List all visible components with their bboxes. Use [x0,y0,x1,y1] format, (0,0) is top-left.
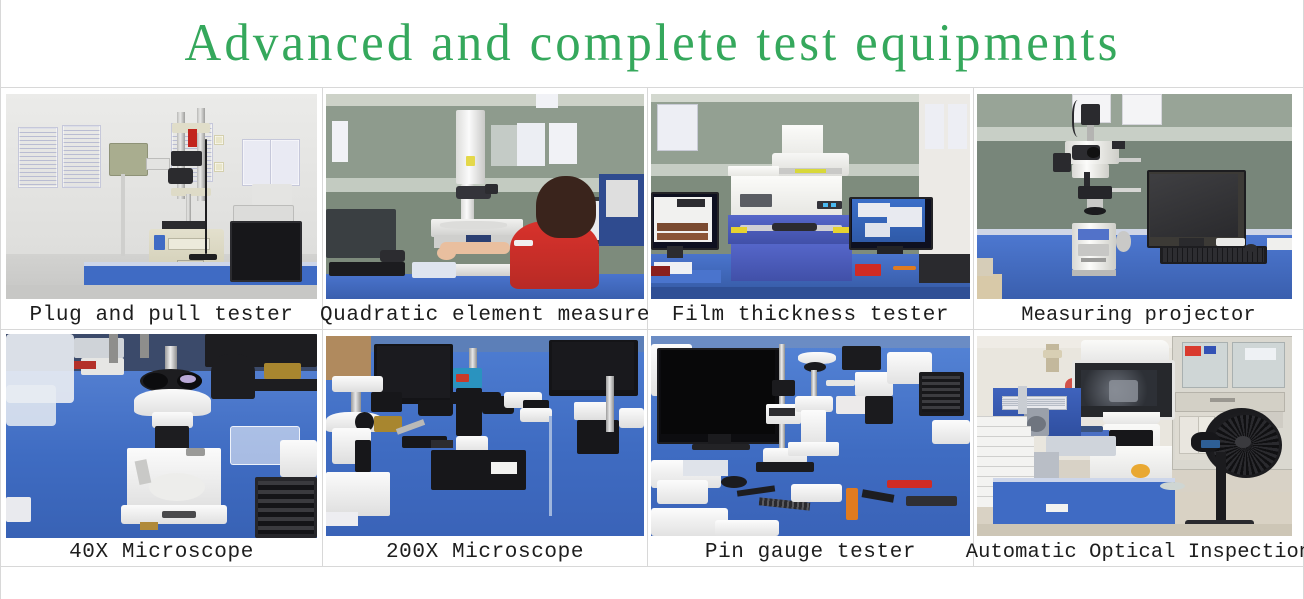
equipment-image-frame [648,330,973,541]
equipment-image-frame [1,330,322,541]
photo-plug-and-pull-tester [6,94,317,299]
equipment-caption: Measuring projector [974,304,1303,329]
photo-40x-microscope [6,334,317,538]
equipment-cell-quadratic-element-measure[interactable]: Quadratic element measure [323,88,648,330]
equipment-caption: Pin gauge tester [648,541,973,566]
equipment-image-frame [323,330,647,541]
equipment-caption: 40X Microscope [1,541,322,566]
photo-measuring-projector [977,94,1292,299]
photo-film-thickness-tester [651,94,970,299]
equipment-grid: Plug and pull tester [1,88,1303,567]
equipment-gallery-page: Advanced and complete test equipments [0,0,1304,599]
equipment-cell-plug-and-pull-tester[interactable]: Plug and pull tester [1,88,323,330]
photo-pin-gauge-tester [651,336,970,536]
equipment-caption: Automatic Optical Inspection [974,541,1303,566]
photo-quadratic-element-measure [326,94,644,299]
equipment-cell-200x-microscope[interactable]: 200X Microscope [323,330,648,567]
equipment-image-frame [1,88,322,304]
equipment-caption: Film thickness tester [648,304,973,329]
photo-automatic-optical-inspection [977,336,1292,536]
equipment-image-frame [974,88,1303,304]
equipment-image-frame [648,88,973,304]
page-title: Advanced and complete test equipments [184,17,1120,70]
equipment-cell-film-thickness-tester[interactable]: Film thickness tester [648,88,974,330]
equipment-cell-40x-microscope[interactable]: 40X Microscope [1,330,323,567]
equipment-caption: Quadratic element measure [323,304,647,329]
equipment-caption: Plug and pull tester [1,304,322,329]
equipment-cell-pin-gauge-tester[interactable]: Pin gauge tester [648,330,974,567]
page-title-row: Advanced and complete test equipments [1,0,1303,88]
equipment-row-2: 40X Microscope [1,330,1303,567]
equipment-image-frame [974,330,1303,541]
photo-200x-microscope [326,336,644,536]
equipment-image-frame [323,88,647,304]
equipment-row-1: Plug and pull tester [1,88,1303,330]
equipment-cell-automatic-optical-inspection[interactable]: Automatic Optical Inspection [974,330,1303,567]
equipment-caption: 200X Microscope [323,541,647,566]
equipment-cell-measuring-projector[interactable]: Measuring projector [974,88,1303,330]
